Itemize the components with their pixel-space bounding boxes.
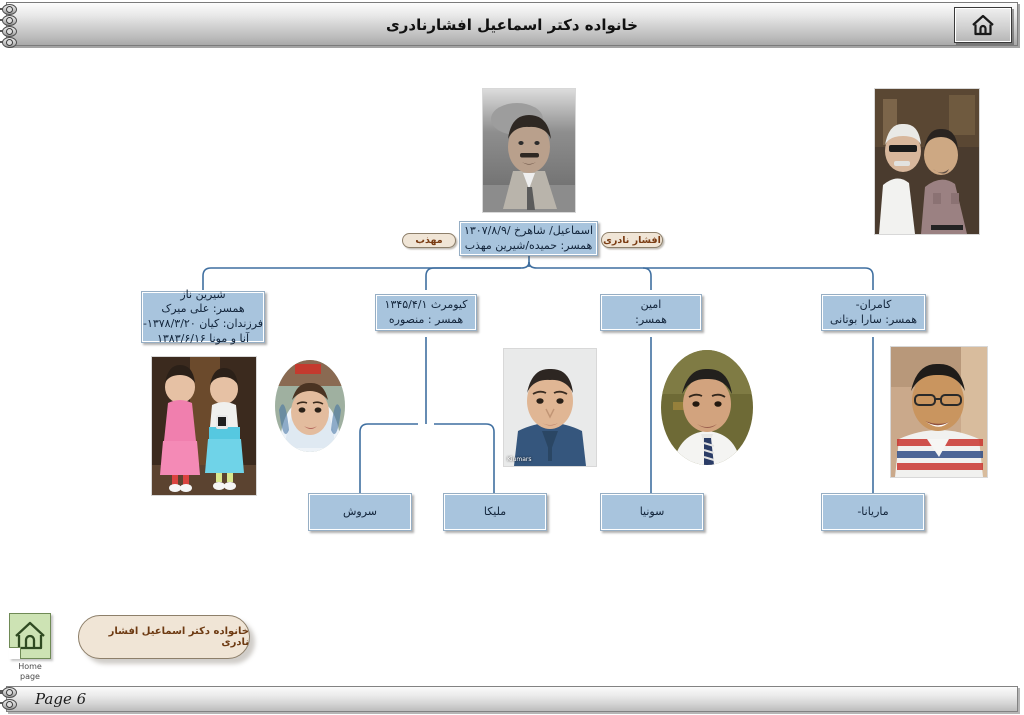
spiral-binding-status [0,686,22,712]
child-node-shirin-naz[interactable]: شیرین ناز همسر: علی میرک فرزندان: کیان ۱… [141,291,265,343]
page-number-label: Page 6 [35,690,86,708]
photo-esmail-portrait [482,88,576,213]
photo-two-girls [151,356,257,496]
footer-caption-pill[interactable]: خانواده دکتر اسماعیل افشار نادری [78,615,250,659]
home-page-shortcut[interactable]: Home page [8,613,52,677]
grandchild-node-melika[interactable]: ملیکا [443,493,547,531]
photo-kiumars-id: Kiumars [503,348,597,467]
grandchild-node-mariana[interactable]: ماریانا- [821,493,925,531]
root-node[interactable]: اسماعیل/ شاهرخ /۱۳۰۷/۸/۹ همسر: حمیده/شیر… [459,221,598,256]
home-button[interactable] [954,7,1012,43]
grandchild-label: ملیکا [484,505,506,520]
photo-man-striped-shirt [890,346,988,478]
status-bar: Page 6 [6,686,1018,712]
grandchild-node-sonia[interactable]: سونیا [600,493,704,531]
child-line: همسر: [635,313,667,328]
photo-two-men [874,88,980,235]
spiral-binding-bottom [2,1,22,25]
child-line: همسر: سارا بوتانی [830,313,917,328]
photo-man-oval [661,350,753,465]
child-line: امین [641,298,662,313]
page-canvas: خانواده دکتر اسماعیل افشارنادری [0,0,1024,715]
child-line: کیومرث ۱۳۴۵/۴/۱ [385,298,468,313]
child-node-kiumars[interactable]: کیومرث ۱۳۴۵/۴/۱ همسر : منصوره [375,294,477,331]
child-line: شیرین ناز [180,288,225,303]
child-line: آنا و مونا ۱۳۸۳/۶/۱۶ [157,332,249,347]
home-page-label-line2: page [8,672,52,682]
pill-mohazzab[interactable]: مهذب [402,233,456,248]
child-node-kamran[interactable]: کامران- همسر: سارا بوتانی [821,294,926,331]
child-line: کامران- [856,298,892,313]
home-page-label-line1: Home [8,662,52,672]
grandchild-label: سروش [343,505,377,520]
grandchild-node-soroush[interactable]: سروش [308,493,412,531]
child-line: فرزندان: کیان ۱۳۷۸/۳/۲۰- [143,317,263,332]
home-page-label: Home page [8,662,52,682]
child-node-amin[interactable]: امین همسر: [600,294,702,331]
home-page-document-icon [9,613,51,659]
grandchild-label: ماریانا- [857,505,888,520]
title-bar: خانواده دکتر اسماعیل افشارنادری [6,2,1018,46]
page-title: خانواده دکتر اسماعیل افشارنادری [7,3,1017,47]
root-node-line2: همسر: حمیده/شیرین مهذب [465,239,593,254]
child-line: همسر: علی میرک [161,302,244,317]
photo-woman-oval [275,360,345,452]
child-line: همسر : منصوره [389,313,463,328]
photo-watermark: Kiumars [507,456,532,463]
pill-afshar-naderi[interactable]: افشار نادری [601,232,663,248]
grandchild-label: سونیا [640,505,665,520]
home-icon [970,13,996,37]
root-node-line1: اسماعیل/ شاهرخ /۱۳۰۷/۸/۹ [464,224,593,239]
